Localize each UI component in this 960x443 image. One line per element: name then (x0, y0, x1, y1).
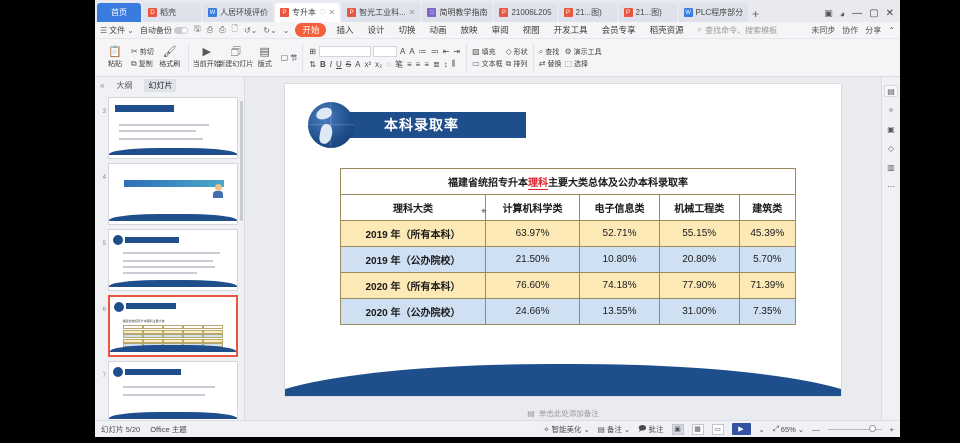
copy-label: 复制 (139, 59, 153, 69)
replace-label: 替换 (547, 59, 561, 69)
cell-value: 52.71% (580, 221, 660, 247)
quick-access-and-ribbon-tabs: ☰ 文件 ⌄ 自动备份 🖫 ⎙ ⎙ 🗋 ↺⌄ ↻⌄ ⌄ 开始 插入 设计 切换 … (95, 22, 900, 39)
ribbon-collapse-icon[interactable]: ⌃ (888, 26, 895, 35)
section-label: 节 (290, 53, 297, 63)
thumb-line (119, 124, 209, 126)
slide-footer-decoration (285, 358, 841, 396)
bold-button[interactable]: B (319, 60, 327, 69)
shape-fill-label: 填充 (482, 47, 496, 57)
more-icon[interactable]: ⋯ (884, 180, 898, 192)
search-icon: ⌕ (698, 25, 702, 35)
save-icon[interactable]: 🖫 (194, 23, 201, 37)
indent-increase-button[interactable]: ⇥ (452, 47, 461, 56)
paste-icon: 📋 (108, 46, 122, 58)
slide-counter: 幻灯片 5/20 (101, 424, 140, 435)
row-label: 2020 年（所有本科） (341, 273, 486, 299)
chevron-down-icon: ⌄ (127, 26, 134, 35)
format-painter-button[interactable]: 🖌 格式刷 (157, 40, 183, 75)
thumbnail-panel-header: « 大纲 幻灯片 (95, 77, 244, 93)
caption-suffix: 主要大类总体及公办本科录取率 (548, 178, 688, 189)
textbox-icon: ▭ (472, 59, 480, 68)
tab-21-a-label: 21...图) (576, 7, 602, 18)
comment-icon: 🗩 (638, 423, 646, 436)
ppt-icon: P (624, 8, 633, 17)
sync-status[interactable]: 未同步 (811, 25, 835, 36)
paste-label: 粘贴 (108, 59, 122, 69)
font-row-bottom: ⇅ B I U S A x² x₂ ◌ 笔 ≡ ≡ ≡ ≣ ↕ ⫼ (308, 59, 461, 70)
ribbon-group-drawing: ▨ 填充 ▭ 文本框 ◇ 形状 ⧉ 排列 (469, 40, 531, 75)
fit-to-window-icon: ⤢ (773, 424, 779, 434)
thumbnail-row[interactable]: 4 (95, 161, 244, 227)
cell-value: 31.00% (659, 299, 739, 325)
thumbnail-number: 4 (97, 163, 106, 181)
zoom-slider-knob[interactable] (869, 425, 876, 432)
ribbon-group-slides: ▶ 当前开始 🗇 新建幻灯片 ▤ 版式 ▢ 节 (191, 40, 301, 75)
text-box-label: 文本框 (482, 59, 503, 69)
tab-view[interactable]: 视图 (519, 23, 544, 37)
tab-close-icon[interactable]: ♡ ✕ (319, 8, 335, 17)
thumbnail-number: 6 (97, 295, 106, 313)
presentation-tool-button[interactable]: ⚙ 演示工具 (564, 47, 601, 57)
tab-developer[interactable]: 开发工具 (550, 23, 592, 37)
autosave-label: 自动备份 (140, 25, 172, 36)
text-box-button[interactable]: ▭ 文本框 (472, 59, 503, 69)
tab-docer[interactable]: D 稻壳 (143, 3, 201, 22)
chevron-down-icon: ⌄ (624, 425, 630, 434)
window-controls: ▣ ◕ — ▢ ✕ (824, 8, 900, 22)
reading-view-button[interactable]: ▭ (712, 424, 724, 435)
ribbon-separator (188, 43, 189, 72)
tab-member[interactable]: 会员专享 (598, 23, 640, 37)
docer-icon: D (148, 8, 157, 17)
tab-zhuanshengben[interactable]: P 专升本 ♡ ✕ (275, 3, 340, 22)
thumbnail-number: 7 (97, 361, 106, 379)
new-slide-button[interactable]: 🗇 新建幻灯片 (223, 40, 249, 75)
clear-format-button[interactable]: ◌ (385, 60, 392, 69)
command-search[interactable]: ⌕ 查找命令、搜索模板 (698, 25, 777, 36)
tool-icon: ⚙ (564, 47, 571, 56)
thumb-num-5: 5 (97, 241, 106, 247)
align-center-button[interactable]: ≡ (415, 60, 422, 69)
print-icon[interactable]: ⎙ (207, 25, 213, 35)
shapes-button[interactable]: ◇ 形状 (506, 47, 528, 57)
tab-renju-label: 人居环境评价 (220, 7, 268, 18)
new-slide-icon: 🗇 (231, 46, 241, 58)
hamburger-icon: ☰ (100, 26, 107, 35)
file-menu-button[interactable]: ☰ 文件 ⌄ (100, 25, 134, 36)
columns-button[interactable]: ⫼ (451, 59, 457, 69)
caption-prefix: 福建省统招专升本 (448, 178, 528, 189)
status-bar: 幻灯片 5/20 Office 主题 ✧ 智能美化 ⌄ ▤ 备注 ⌄ 🗩 批注 … (95, 420, 900, 437)
table-header-row: 理科大类 计算机科学类 电子信息类 机械工程类 建筑类 (341, 195, 796, 221)
globe-icon (113, 235, 123, 245)
tab-21-a[interactable]: P 21...图) (559, 3, 617, 22)
tab-start[interactable]: 开始 (295, 23, 326, 37)
slide-title-banner[interactable]: 本科录取率 (328, 112, 526, 138)
thumbnail-row[interactable]: 6 福建省统招专升本理科主要大类 (95, 293, 244, 359)
subscript-button[interactable]: x₂ (374, 60, 383, 69)
cell-value: 77.90% (659, 273, 739, 299)
copy-icon: ⧉ (131, 59, 137, 69)
tab-design[interactable]: 设计 (364, 23, 389, 37)
tab-transition[interactable]: 切换 (395, 23, 420, 37)
tab-21006l205-label: 21006L205 (511, 8, 551, 17)
format-painter-icon: 🖌 (163, 46, 177, 58)
cell-value: 24.66% (485, 299, 579, 325)
thumbnail-row[interactable]: 3 (95, 95, 244, 161)
cell-value: 63.97% (485, 221, 579, 247)
thumb-num-6: 6 (97, 307, 106, 313)
numbering-button[interactable]: ≕ (430, 47, 440, 56)
doc-icon: W (208, 8, 217, 17)
shapes-label: 形状 (514, 47, 528, 57)
tab-close-icon[interactable]: ✕ (409, 8, 416, 17)
share-button[interactable]: 分享 (865, 25, 881, 36)
play-circle-icon: ▶ (202, 46, 210, 58)
thumb-footer-wave (109, 214, 237, 221)
paste-button[interactable]: 📋 粘贴 (102, 40, 128, 75)
ribbon-separator (302, 43, 303, 72)
thumbnail-row[interactable]: 7 (95, 359, 244, 420)
thumb-num-4: 4 (97, 175, 106, 181)
thumb-num-7: 7 (97, 373, 106, 379)
layout-icon: ▤ (260, 46, 270, 58)
cell-value: 74.18% (580, 273, 660, 299)
autosave-toggle[interactable]: 自动备份 (140, 25, 188, 36)
notes-pane[interactable]: ▤ 单击此处添加备注 (245, 406, 881, 420)
shape-icon[interactable]: ◇ (884, 142, 898, 154)
ppt-icon: P (499, 8, 508, 17)
tab-docer-label: 稻壳 (160, 7, 176, 18)
ppt-icon: P (347, 8, 356, 17)
thumb-footer-wave (109, 148, 237, 155)
undo-icon[interactable]: ↺⌄ (244, 26, 257, 35)
ribbon-separator (533, 43, 534, 72)
font-size-input[interactable] (373, 46, 397, 57)
thumb-line (123, 394, 205, 396)
thumb-title-bar (126, 303, 176, 309)
zoom-slider[interactable] (828, 429, 882, 430)
new-tab-button[interactable]: + (752, 7, 759, 21)
list-item[interactable] (108, 97, 238, 159)
globe-grid (308, 102, 354, 148)
find-label: 查找 (545, 47, 559, 57)
letterbox-right (900, 0, 960, 443)
font-name-input[interactable] (319, 46, 371, 57)
justify-button[interactable]: ≣ (432, 60, 441, 69)
slide-canvas[interactable]: 本科录取率 福建省统招专升本理科主要大类总体及公办本科录取率 理科大类 计算机科… (285, 84, 841, 396)
cell-value: 45.39% (739, 221, 795, 247)
tab-home-label: 首页 (111, 7, 127, 18)
tab-animation[interactable]: 动画 (426, 23, 451, 37)
cell-value: 21.50% (485, 247, 579, 273)
font-picker-icon[interactable]: ⊞ (308, 47, 317, 56)
autosave-switch-icon[interactable] (174, 27, 188, 34)
copy-button[interactable]: ⧉ 复制 (131, 59, 154, 69)
image-icon[interactable]: ▣ (884, 123, 898, 135)
doc-icon: W (684, 8, 693, 17)
zoom-level: 65% (781, 425, 796, 434)
ppt-icon: P (564, 8, 573, 17)
slide-sorter-button[interactable]: ▦ (692, 424, 704, 435)
section-button[interactable]: ▢ 节 (281, 53, 298, 63)
tab-docer-resources[interactable]: 稻壳资源 (646, 23, 688, 37)
scissors-icon: ✂ (131, 47, 138, 56)
chart-icon[interactable]: ▥ (884, 161, 898, 173)
thumb-table-row (123, 339, 224, 343)
right-tool-rail: ▤ ✧ ▣ ◇ ▥ ⋯ (881, 77, 900, 420)
editor-body: « 大纲 幻灯片 3 (95, 77, 900, 420)
tab-jiaoxue-zhinan-label: 简明教学指南 (439, 7, 487, 18)
replace-button[interactable]: ⇄ 替换 (539, 59, 562, 69)
column-header-ee: 电子信息类 (580, 195, 660, 221)
replace-icon: ⇄ (539, 59, 546, 68)
slide-editing-area: 本科录取率 福建省统招专升本理科主要大类总体及公办本科录取率 理科大类 计算机科… (245, 77, 881, 420)
caption-highlight: 理科 (528, 178, 548, 190)
tab-home[interactable]: 首页 (97, 3, 141, 22)
table-caption: 福建省统招专升本理科主要大类总体及公办本科录取率 (341, 169, 796, 195)
beautify-label: 智能美化 (551, 424, 581, 435)
layout-button[interactable]: ▤ 版式 (252, 40, 278, 75)
shapes-icon: ◇ (506, 47, 512, 56)
thumb-footer-wave (109, 412, 237, 419)
maximize-button[interactable]: ▢ (869, 8, 878, 19)
avatar[interactable]: ◕ (840, 9, 845, 19)
tab-plc-label: PLC程序部分 (696, 7, 744, 18)
layout-label: 版式 (258, 59, 272, 69)
thumb-title-bar (115, 105, 174, 112)
thumb-footer-wave (109, 280, 237, 287)
thumb-title-bar (125, 237, 179, 243)
ribbon-group-font: ⊞ A A ≔ ≕ ⇤ ⇥ ⇅ B I U S A x² (305, 40, 464, 75)
cut-button[interactable]: ✂ 剪切 (131, 47, 154, 57)
shape-fill-button[interactable]: ▨ 填充 (472, 47, 503, 57)
highlight-button[interactable]: 笔 (394, 59, 404, 70)
format-painter-label: 格式刷 (159, 59, 180, 69)
cell-value: 55.15% (659, 221, 739, 247)
thumbnail-number: 3 (97, 97, 106, 115)
thumb-table-row (123, 334, 224, 338)
remarks-button[interactable]: ▤ 备注 ⌄ (598, 424, 630, 435)
list-item-selected[interactable]: 福建省统招专升本理科主要大类 (108, 295, 238, 357)
globe-icon (114, 302, 124, 312)
cell-value: 20.80% (659, 247, 739, 273)
file-menu-label: 文件 (109, 25, 125, 36)
tab-slideshow[interactable]: 放映 (457, 23, 482, 37)
comment-button[interactable]: 🗩 批注 (638, 423, 663, 436)
collapse-panel-icon[interactable]: « (100, 81, 104, 90)
letterbox-bottom (0, 437, 960, 443)
tab-zhiguang-label: 智光工业科... (359, 7, 406, 18)
cell-value: 5.70% (739, 247, 795, 273)
font-row-top: ⊞ A A ≔ ≕ ⇤ ⇥ (308, 46, 461, 57)
new-slide-label: 新建幻灯片 (218, 59, 253, 69)
ribbon-separator (466, 43, 467, 72)
tab-insert[interactable]: 插入 (332, 23, 357, 37)
thumbnail-row[interactable]: 5 (95, 227, 244, 293)
table-row: 2020 年（所有本科） 76.60% 74.18% 77.90% 71.39% (341, 273, 796, 299)
thumb-line (119, 138, 203, 140)
thumb-line (123, 252, 220, 254)
grow-font-button[interactable]: A (399, 47, 406, 56)
tab-zhiguang[interactable]: P 智光工业科... ✕ (342, 3, 420, 22)
letterbox-left (0, 0, 95, 443)
fill-icon: ▨ (472, 47, 480, 56)
arrange-label: 排列 (513, 59, 527, 69)
notes-placeholder: 单击此处添加备注 (539, 408, 599, 419)
customize-qat-icon[interactable]: ⌄ (283, 26, 290, 35)
search-placeholder: 查找命令、搜索模板 (705, 25, 777, 36)
tab-21-b-label: 21...图) (636, 7, 662, 18)
bullets-button[interactable]: ≔ (418, 47, 428, 56)
cell-value: 71.39% (739, 273, 795, 299)
chevron-down-icon: ⌄ (583, 425, 589, 434)
cell-value: 76.60% (485, 273, 579, 299)
italic-button[interactable]: I (329, 60, 333, 69)
redo-icon[interactable]: ↻⌄ (263, 26, 276, 35)
tab-outline[interactable]: 大纲 (112, 79, 136, 92)
select-label: 选择 (574, 59, 588, 69)
section-icon: ▢ (281, 53, 289, 62)
tab-review[interactable]: 审阅 (488, 23, 513, 37)
tab-21006l205[interactable]: P 21006L205 (494, 3, 556, 22)
column-header-category: 理科大类 (341, 195, 486, 221)
tab-zhuanshengben-label: 专升本 (292, 7, 316, 18)
globe-icon (113, 367, 123, 377)
new-icon[interactable]: 🗋 (232, 23, 238, 37)
cell-value: 10.80% (580, 247, 660, 273)
thumb-person-image (213, 184, 223, 198)
tab-renju[interactable]: W 人居环境评价 (203, 3, 273, 22)
find-button[interactable]: ⌕ 查找 (539, 47, 562, 57)
thumb-title-bar (124, 180, 224, 187)
search-icon: ⌕ (539, 47, 543, 57)
theme-name[interactable]: Office 主题 (150, 424, 187, 435)
line-spacing-button[interactable]: ↕ (443, 60, 449, 69)
select-icon: ⬚ (564, 59, 572, 68)
column-header-arch: 建筑类 (739, 195, 795, 221)
zoom-in-button[interactable]: + (890, 425, 894, 434)
panel-toggle-icon[interactable]: ▣ (824, 8, 833, 19)
document-tab-strip: 首页 D 稻壳 W 人居环境评价 P 专升本 ♡ ✕ P 智光工业科... ✕ … (95, 0, 900, 22)
play-button[interactable]: ▶ (732, 423, 751, 435)
thumb-line (123, 272, 197, 274)
align-left-button[interactable]: ≡ (406, 60, 413, 69)
ribbon-toolbar: 📋 粘贴 ✂ 剪切 ⧉ 复制 🖌 格式刷 ▶ 当 (95, 39, 900, 77)
from-beginning-label: 当前开始 (193, 59, 221, 69)
shrink-font-button[interactable]: A (408, 47, 415, 56)
zoom-out-button[interactable]: — (812, 425, 820, 434)
thumb-title-bar (125, 369, 181, 375)
thumbnail-number: 5 (97, 229, 106, 247)
beautify-icon: ✧ (543, 425, 549, 434)
page-title: 本科录取率 (384, 115, 459, 135)
close-button[interactable]: ✕ (886, 8, 894, 19)
list-item[interactable] (108, 229, 238, 291)
arrange-icon: ⧉ (506, 59, 512, 69)
thumbnail-list[interactable]: 3 4 (95, 93, 244, 420)
tab-slides[interactable]: 幻灯片 (144, 79, 176, 92)
superscript-button[interactable]: x² (363, 60, 372, 69)
arrange-button[interactable]: ⧉ 排列 (506, 59, 528, 69)
strikethrough-button[interactable]: S (345, 60, 352, 69)
normal-view-button[interactable]: ▣ (672, 424, 684, 435)
admission-rate-table[interactable]: 福建省统招专升本理科主要大类总体及公办本科录取率 理科大类 计算机科学类 电子信… (340, 168, 796, 325)
ribbon-group-clipboard: 📋 粘贴 ✂ 剪切 ⧉ 复制 🖌 格式刷 (99, 40, 186, 75)
slide-thumbnail-panel: « 大纲 幻灯片 3 (95, 77, 245, 420)
row-label: 2019 年（所有本科） (341, 221, 486, 247)
remarks-label: 备注 (607, 424, 622, 435)
mouse-cursor-icon: ⌖ (481, 206, 490, 216)
row-label: 2020 年（公办院校） (341, 299, 486, 325)
tab-21-b[interactable]: P 21...图) (619, 3, 677, 22)
ribbon-group-editing: ⌕ 查找 ⇄ 替换 ⚙ 演示工具 ⬚ 选择 (536, 40, 605, 75)
collaborate-button[interactable]: 协作 (842, 25, 858, 36)
thumb-line (123, 386, 215, 388)
select-button[interactable]: ⬚ 选择 (564, 59, 601, 69)
cell-value: 13.55% (580, 299, 660, 325)
cell-value: 7.35% (739, 299, 795, 325)
wps-presentation-window: 首页 D 稻壳 W 人居环境评价 P 专升本 ♡ ✕ P 智光工业科... ✕ … (95, 0, 900, 437)
text-color-button[interactable]: A (354, 60, 361, 69)
notes-icon: ▤ (527, 409, 535, 418)
row-label: 2019 年（公办院校） (341, 247, 486, 273)
footer-wave-dark (285, 364, 841, 396)
underline-button[interactable]: U (335, 60, 343, 69)
list-item[interactable] (108, 361, 238, 420)
list-item[interactable] (108, 163, 238, 225)
align-right-button[interactable]: ≡ (423, 60, 430, 69)
thumb-line (123, 266, 215, 268)
print-preview-icon[interactable]: ⎙ (219, 25, 225, 35)
indent-decrease-button[interactable]: ⇤ (442, 47, 451, 56)
table-row: 2019 年（所有本科） 63.97% 52.71% 55.15% 45.39% (341, 221, 796, 247)
minimize-button[interactable]: — (852, 8, 862, 19)
comment-label: 批注 (649, 424, 664, 435)
tab-plc[interactable]: W PLC程序部分 (679, 3, 749, 22)
thumbnail-scrollbar[interactable] (240, 101, 243, 221)
thumb-line (119, 130, 196, 132)
tab-jiaoxue-zhinan[interactable]: □ 简明教学指南 (422, 3, 492, 22)
chevron-down-icon: ⌄ (798, 425, 804, 434)
status-bar-right: ✧ 智能美化 ⌄ ▤ 备注 ⌄ 🗩 批注 ▣ ▦ ▭ ▶ ⌄ ⤢ 65% ⌄ (543, 423, 894, 436)
presentation-tool-label: 演示工具 (574, 47, 602, 57)
quickbar-right-actions: 未同步 协作 分享 ⌃ (811, 25, 895, 36)
fit-to-window-button[interactable]: ⤢ 65% ⌄ (773, 424, 804, 434)
column-header-me: 机械工程类 (659, 195, 739, 221)
ppt-icon: P (280, 8, 289, 17)
remarks-icon: ▤ (598, 425, 605, 434)
idea-icon[interactable]: ✧ (884, 104, 898, 116)
thumb-table-row (123, 330, 224, 334)
cut-label: 剪切 (140, 47, 154, 57)
thumb-footer-wave (110, 345, 236, 352)
table-caption-row: 福建省统招专升本理科主要大类总体及公办本科录取率 (341, 169, 796, 195)
beautify-button[interactable]: ✧ 智能美化 ⌄ (543, 424, 590, 435)
from-beginning-button[interactable]: ▶ 当前开始 (194, 40, 220, 75)
doc-icon: □ (427, 8, 436, 17)
thumb-line (123, 260, 213, 262)
play-dropdown-icon[interactable]: ⌄ (759, 425, 765, 434)
panel-icon[interactable]: ▤ (884, 85, 898, 97)
table-row: 2019 年（公办院校） 21.50% 10.80% 20.80% 5.70% (341, 247, 796, 273)
thumb-table-caption: 福建省统招专升本理科主要大类 (123, 319, 165, 323)
thumb-num-3: 3 (97, 109, 106, 115)
slide-canvas-wrapper: 本科录取率 福建省统招专升本理科主要大类总体及公办本科录取率 理科大类 计算机科… (245, 77, 881, 406)
table-row: 2020 年（公办院校） 24.66% 13.55% 31.00% 7.35% (341, 299, 796, 325)
text-direction-icon[interactable]: ⇅ (308, 60, 317, 69)
column-header-cs: 计算机科学类 (485, 195, 579, 221)
